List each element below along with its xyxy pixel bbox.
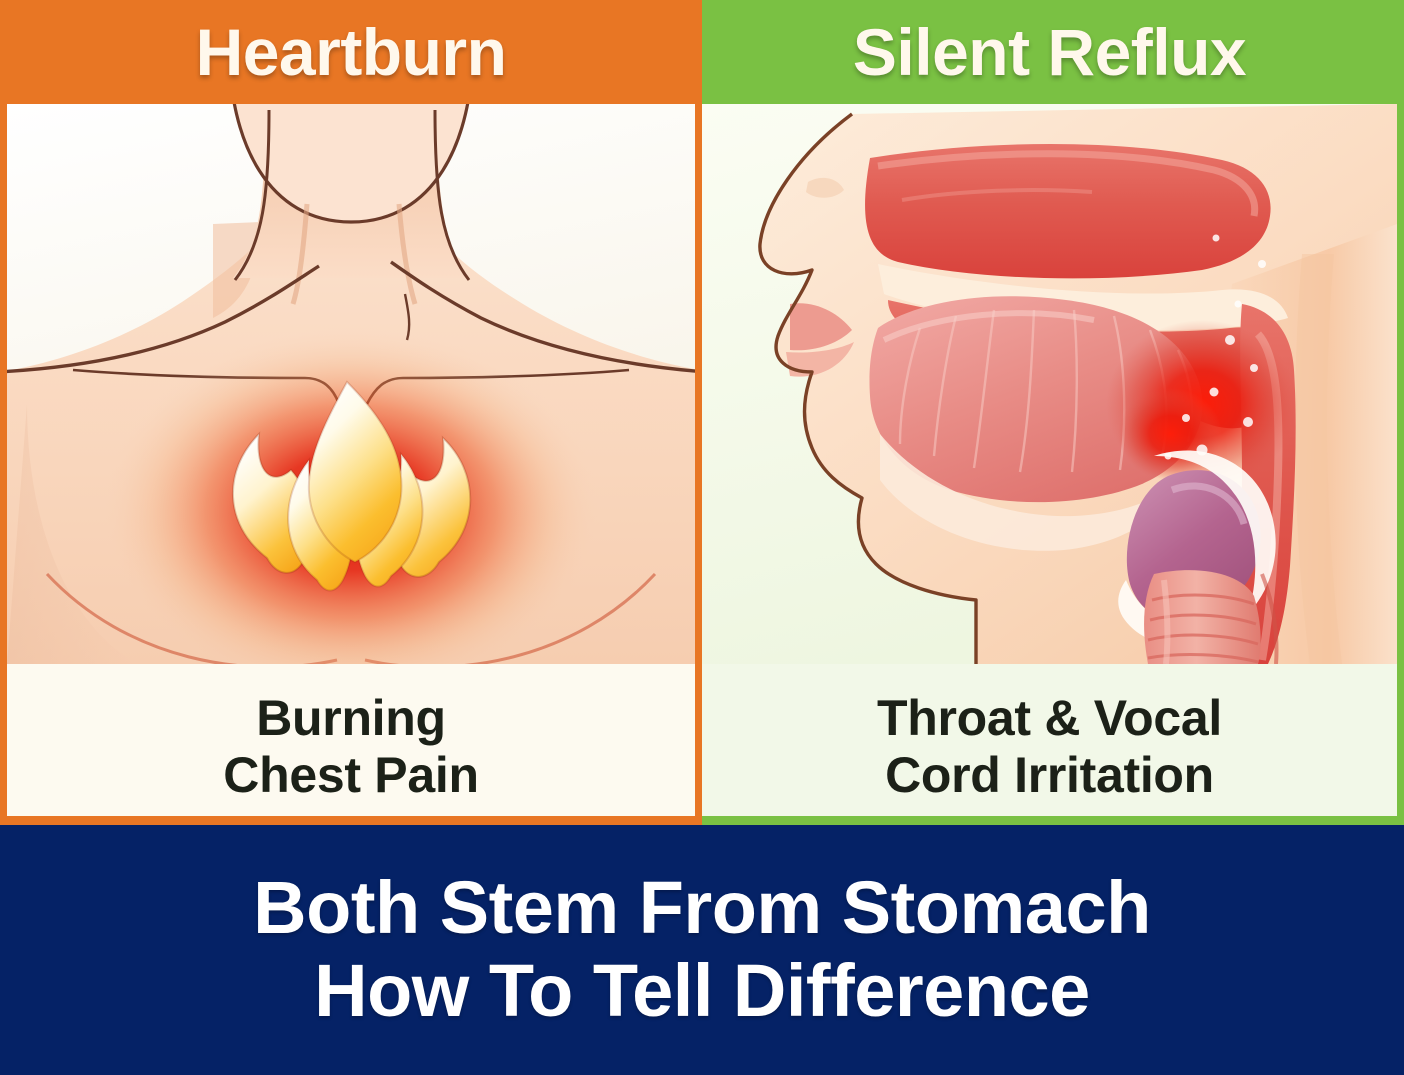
banner-line-2: How To Tell Difference [314, 950, 1090, 1033]
panel-heartburn-title: Heartburn [196, 14, 507, 90]
head-throat-svg [702, 104, 1397, 664]
panel-heartburn-body: Burning Chest Pain [7, 104, 695, 816]
bottom-banner: Both Stem From Stomach How To Tell Diffe… [0, 825, 1404, 1075]
panel-silent-reflux-header: Silent Reflux [702, 0, 1397, 104]
caption-line-2: Cord Irritation [702, 747, 1397, 804]
panel-silent-reflux: Silent Reflux [702, 0, 1404, 825]
banner-line-1: Both Stem From Stomach [253, 867, 1151, 950]
panel-heartburn-caption: Burning Chest Pain [7, 690, 695, 804]
panel-heartburn: Heartburn [0, 0, 702, 825]
torso-flame-illustration [7, 104, 695, 664]
panel-silent-reflux-caption: Throat & Vocal Cord Irritation [702, 690, 1397, 804]
head-throat-illustration [702, 104, 1397, 664]
panel-heartburn-header: Heartburn [7, 0, 695, 104]
caption-line-1: Throat & Vocal [702, 690, 1397, 747]
caption-line-2: Chest Pain [7, 747, 695, 804]
torso-flame-svg [7, 104, 695, 664]
panel-silent-reflux-body: Throat & Vocal Cord Irritation [702, 104, 1397, 816]
caption-line-1: Burning [7, 690, 695, 747]
infographic-poster: Heartburn [0, 0, 1404, 1075]
panel-silent-reflux-title: Silent Reflux [853, 14, 1246, 90]
comparison-panels: Heartburn [0, 0, 1404, 825]
